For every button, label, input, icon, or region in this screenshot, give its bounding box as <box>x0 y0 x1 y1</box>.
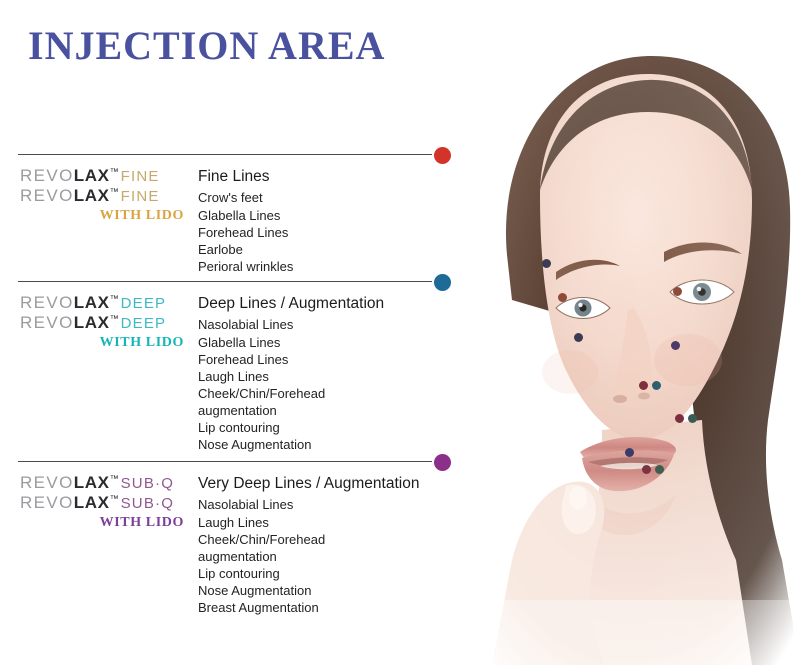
section-divider-row-subq <box>0 452 460 474</box>
injection-point-glabella <box>558 293 567 302</box>
indication-item: Cheek/Chin/Forehead <box>198 385 460 402</box>
indication-item: Cheek/Chin/Forehead <box>198 531 460 548</box>
logo-revo-text: REVO <box>20 166 74 185</box>
with-lido-label-subq: WITH LIDO <box>20 515 190 531</box>
trademark-symbol: ™ <box>110 474 119 484</box>
logo-grade-fine: FINE <box>121 188 160 205</box>
indications-subq: Very Deep Lines / Augmentation Nasolabia… <box>190 474 460 616</box>
brand-block-subq: REVOLAX™SUB·Q REVOLAX™SUB·Q WITH LIDO <box>0 474 190 531</box>
section-divider-line <box>18 154 432 155</box>
product-logo-fine: REVOLAX™FINE <box>20 167 190 186</box>
trademark-symbol: ™ <box>110 294 119 304</box>
product-logo-subq-lido: REVOLAX™SUB·Q <box>20 494 190 513</box>
product-section-subq: REVOLAX™SUB·Q REVOLAX™SUB·Q WITH LIDO Ve… <box>0 452 460 616</box>
indication-item: Nose Augmentation <box>198 582 460 599</box>
indication-item: augmentation <box>198 548 460 565</box>
section-divider-line <box>18 281 432 282</box>
indication-item: Nasolabial Lines <box>198 316 460 333</box>
product-section-fine: REVOLAX™FINE REVOLAX™FINE WITH LIDO Fine… <box>0 145 460 275</box>
product-logo-subq: REVOLAX™SUB·Q <box>20 474 190 493</box>
logo-revo-text: REVO <box>20 186 74 205</box>
indication-item: augmentation <box>198 402 460 419</box>
face-illustration <box>452 0 800 665</box>
indication-item: Forehead Lines <box>198 351 460 368</box>
logo-revo-text: REVO <box>20 473 74 492</box>
indications-deep: Deep Lines / Augmentation Nasolabial Lin… <box>190 294 460 454</box>
logo-lax-text: LAX <box>74 473 110 492</box>
logo-grade-subq: SUB·Q <box>121 475 175 492</box>
injection-point-nasolabial-a <box>639 381 648 390</box>
product-logo-fine-lido: REVOLAX™FINE <box>20 187 190 206</box>
product-logo-deep-lido: REVOLAX™DEEP <box>20 314 190 333</box>
indications-fine: Fine Lines Crow's feet Glabella Lines Fo… <box>190 167 460 275</box>
logo-grade-fine: FINE <box>121 168 160 185</box>
indication-item: Crow's feet <box>198 189 460 206</box>
indication-item: Glabella Lines <box>198 334 460 351</box>
indication-item: Forehead Lines <box>198 224 460 241</box>
indication-item: Lip contouring <box>198 565 460 582</box>
logo-grade-deep: DEEP <box>121 295 167 312</box>
injection-point-forehead-upper-left <box>542 259 551 268</box>
with-lido-label-fine: WITH LIDO <box>20 208 190 224</box>
indication-item: Lip contouring <box>198 419 460 436</box>
logo-revo-text: REVO <box>20 493 74 512</box>
section-color-dot-subq <box>434 454 451 471</box>
face-photo-svg <box>452 0 800 665</box>
product-section-deep: REVOLAX™DEEP REVOLAX™DEEP WITH LIDO Deep… <box>0 272 460 454</box>
page-title: INJECTION AREA <box>28 22 385 69</box>
logo-lax-text: LAX <box>74 166 110 185</box>
trademark-symbol: ™ <box>110 313 119 323</box>
indication-item: Laugh Lines <box>198 368 460 385</box>
indication-title-fine: Fine Lines <box>198 167 460 186</box>
injection-point-crows-feet-right <box>671 341 680 350</box>
logo-grade-subq: SUB·Q <box>121 495 175 512</box>
section-divider-line <box>18 461 432 462</box>
indication-title-deep: Deep Lines / Augmentation <box>198 294 460 313</box>
injection-point-cheek-b <box>688 414 697 423</box>
section-color-dot-fine <box>434 147 451 164</box>
brand-block-deep: REVOLAX™DEEP REVOLAX™DEEP WITH LIDO <box>0 294 190 351</box>
logo-lax-text: LAX <box>74 313 110 332</box>
indication-item: Breast Augmentation <box>198 599 460 616</box>
brand-block-fine: REVOLAX™FINE REVOLAX™FINE WITH LIDO <box>0 167 190 224</box>
logo-lax-text: LAX <box>74 293 110 312</box>
logo-revo-text: REVO <box>20 293 74 312</box>
injection-area-infographic: INJECTION AREA REVOLAX™FINE REVOLAX™FINE… <box>0 0 800 665</box>
indication-item: Earlobe <box>198 241 460 258</box>
indication-item: Glabella Lines <box>198 207 460 224</box>
logo-grade-deep: DEEP <box>121 315 167 332</box>
injection-point-crows-feet-left <box>574 333 583 342</box>
injection-point-cheek-a <box>675 414 684 423</box>
trademark-symbol: ™ <box>110 167 119 177</box>
indication-item: Laugh Lines <box>198 514 460 531</box>
indication-item: Nasolabial Lines <box>198 496 460 513</box>
injection-point-temple-right <box>673 287 682 296</box>
logo-lax-text: LAX <box>74 493 110 512</box>
logo-revo-text: REVO <box>20 313 74 332</box>
with-lido-label-deep: WITH LIDO <box>20 335 190 351</box>
logo-lax-text: LAX <box>74 186 110 205</box>
injection-point-nasolabial-b <box>652 381 661 390</box>
injection-point-chin-b <box>655 465 664 474</box>
section-divider-row-deep <box>0 272 460 294</box>
section-color-dot-deep <box>434 274 451 291</box>
indication-title-subq: Very Deep Lines / Augmentation <box>198 474 460 493</box>
trademark-symbol: ™ <box>110 186 119 196</box>
trademark-symbol: ™ <box>110 493 119 503</box>
product-logo-deep: REVOLAX™DEEP <box>20 294 190 313</box>
injection-point-chin-a <box>642 465 651 474</box>
section-divider-row-fine <box>0 145 460 167</box>
injection-point-perioral <box>625 448 634 457</box>
